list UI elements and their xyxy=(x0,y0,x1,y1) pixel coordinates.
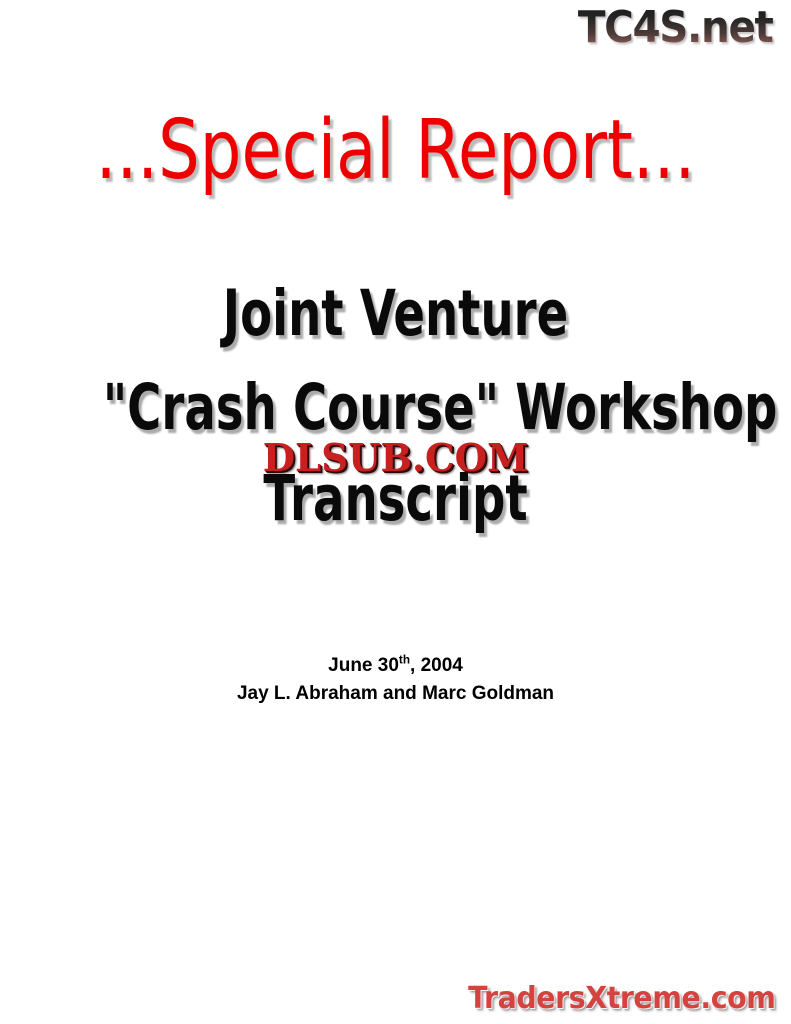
tc4s-brand-logo: TC4S.net xyxy=(578,6,773,50)
cover-meta-block: June 30th, 2004 Jay L. Abraham and Marc … xyxy=(0,652,791,707)
publication-date-monthday: June 30 xyxy=(328,655,399,676)
cover-page: TC4S.net ...Special Report... Joint Vent… xyxy=(0,0,791,1024)
cover-title-block: Joint Venture "Crash Course" Workshop Tr… xyxy=(0,282,791,547)
title-line-crash-course-workshop: "Crash Course" Workshop xyxy=(103,376,688,440)
transcript-row: Transcript DLSUB.COM xyxy=(0,467,791,547)
publication-date: June 30th, 2004 xyxy=(0,652,791,680)
publication-date-ordinal: th xyxy=(399,654,410,667)
tradersxtreme-footer-logo: TradersXtreme.com xyxy=(468,984,775,1014)
title-line-transcript: Transcript xyxy=(103,467,688,531)
special-report-headline: ...Special Report... xyxy=(79,110,712,192)
title-line-joint-venture: Joint Venture xyxy=(103,282,688,346)
author-names: Jay L. Abraham and Marc Goldman xyxy=(0,680,791,708)
publication-date-year: , 2004 xyxy=(410,655,463,676)
